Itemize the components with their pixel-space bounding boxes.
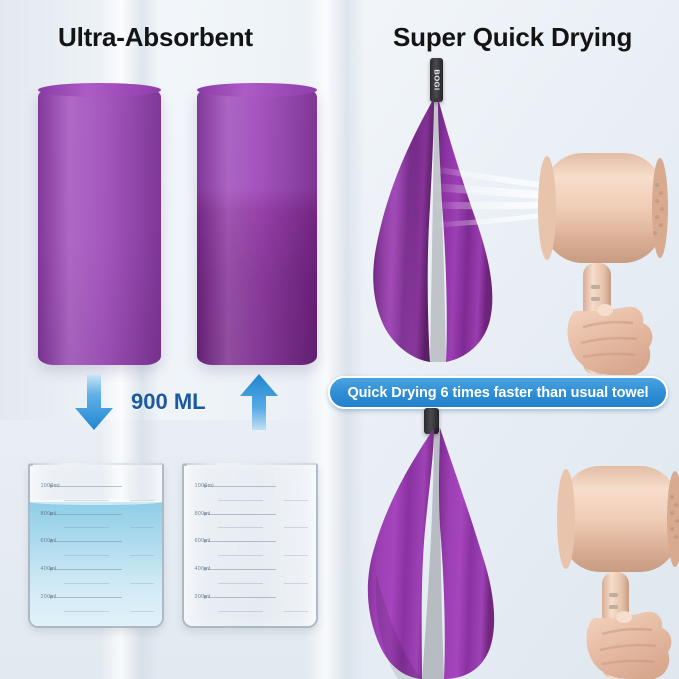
rolled-towel-dry-top xyxy=(38,83,161,97)
graduation-label: 200ml xyxy=(195,594,211,600)
rolled-towel-dry xyxy=(38,88,161,365)
status-badge: Quick Drying 6 times faster than usual t… xyxy=(328,376,668,409)
arrow-up-icon xyxy=(238,374,280,430)
page-title-super-quick-drying: Super Quick Drying xyxy=(393,22,632,53)
beaker-filled-graduations: 1000ml 800ml 600ml 400ml 200ml xyxy=(30,463,162,626)
beaker-empty-graduations: 1000ml 800ml 600ml 400ml 200ml xyxy=(184,463,316,626)
graduation-label: 600ml xyxy=(41,538,57,544)
hanging-towel-blown xyxy=(368,96,508,364)
rolled-towel-wet-top xyxy=(197,83,317,97)
graduation-label: 400ml xyxy=(195,566,211,572)
graduation-label: 800ml xyxy=(195,511,211,517)
hair-dryer-bottom xyxy=(528,450,679,679)
beaker-empty: 1000ml 800ml 600ml 400ml 200ml xyxy=(182,463,318,628)
graduation-label: 200ml xyxy=(41,594,57,600)
graduation-label: 800ml xyxy=(41,511,57,517)
arrow-down-icon xyxy=(73,374,115,430)
status-badge-label: Quick Drying 6 times faster than usual t… xyxy=(348,385,649,401)
graduation-label: 1000ml xyxy=(41,483,60,489)
hanging-towel-dry xyxy=(360,424,518,679)
product-infographic: Ultra-Absorbent 900 ML xyxy=(0,0,679,679)
brand-tag-label: BOGI xyxy=(432,69,441,90)
capacity-label: 900 ML xyxy=(131,389,206,415)
beaker-filled: 1000ml 800ml 600ml 400ml 200ml xyxy=(28,463,164,628)
rolled-towel-wet xyxy=(197,88,317,365)
hair-dryer-top xyxy=(505,135,679,375)
graduation-label: 1000ml xyxy=(195,483,214,489)
page-title-ultra-absorbent: Ultra-Absorbent xyxy=(58,22,253,53)
graduation-label: 600ml xyxy=(195,538,211,544)
graduation-label: 400ml xyxy=(41,566,57,572)
